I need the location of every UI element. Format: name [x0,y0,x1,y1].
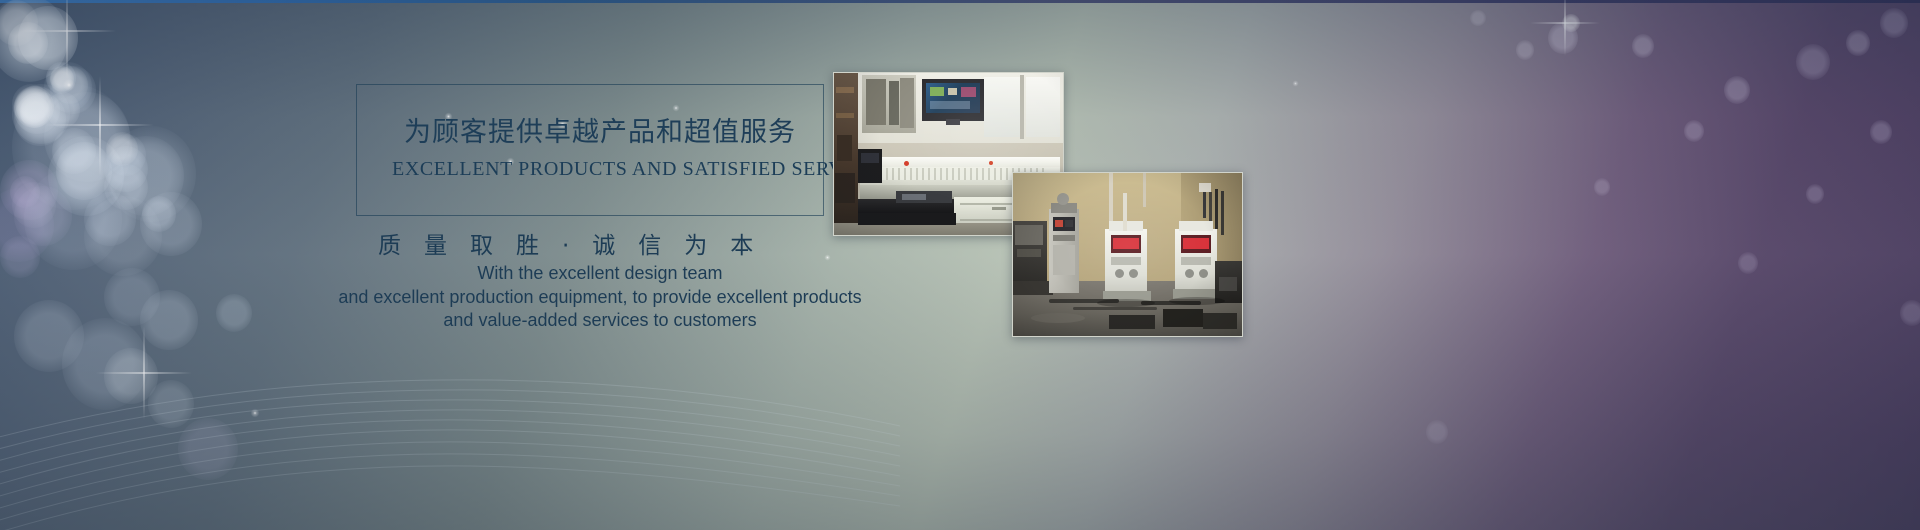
bokeh-circle [106,132,138,166]
sparkle-flare [250,408,260,418]
headline-english: EXCELLENT PRODUCTS AND SATISFIED SERVICE [392,158,832,181]
description-line-3: and value-added services to customers [300,309,900,333]
headline-chinese: 为顾客提供卓越产品和超值服务 [404,110,824,149]
bokeh-circle [0,0,68,82]
light-streak [96,372,192,374]
bokeh-circle [104,348,158,404]
bokeh-circle [1426,420,1448,444]
bokeh-circle [84,192,136,246]
bokeh-circle [12,84,132,210]
description-line-2: and excellent production equipment, to p… [300,286,900,310]
description-line-1: With the excellent design team [300,262,900,286]
light-streak [143,326,145,420]
top-accent-rule [0,0,1920,3]
promo-banner: 为顾客提供卓越产品和超值服务 EXCELLENT PRODUCTS AND SA… [0,0,1920,530]
bokeh-circle [14,186,72,246]
sparkle-flare [824,254,831,261]
bokeh-circle [104,164,148,210]
bokeh-circle [104,268,160,326]
light-streak [1564,0,1566,56]
bokeh-circle [8,22,48,64]
bokeh-circle [24,168,122,270]
bokeh-circle [52,128,96,174]
bokeh-circle [46,62,76,94]
headline-frame [356,84,824,216]
bokeh-circle [48,136,124,216]
sparkle-flare [62,78,76,92]
bokeh-circle [140,192,202,256]
light-streak [66,0,68,80]
bokeh-circle [62,318,148,410]
bokeh-circle [148,380,194,428]
bokeh-circle [12,84,50,124]
bokeh-circle [84,196,162,276]
bokeh-circle [56,142,112,200]
bokeh-circle [50,66,74,92]
bokeh-circle [14,86,60,134]
bokeh-circle [46,92,80,128]
light-streak [20,30,116,32]
bokeh-circle [1806,184,1824,204]
bokeh-circle [1738,252,1758,274]
light-streak [99,76,101,176]
photo-test-machines [1012,172,1243,337]
bokeh-circle [178,418,238,480]
bokeh-circle [52,66,88,104]
bokeh-circle [1516,40,1534,60]
bokeh-circle [14,300,84,372]
bokeh-circle [12,84,70,144]
bokeh-circle [0,236,40,278]
description-paragraph: With the excellent design team and excel… [300,262,900,333]
bokeh-circle [14,92,66,146]
bokeh-circle [1880,8,1908,38]
bokeh-circle [1632,34,1654,58]
bokeh-circle [140,290,198,350]
bokeh-circle [1470,10,1486,26]
bokeh-circle [14,86,54,128]
bokeh-circle [16,88,52,126]
bokeh-circle [1562,14,1580,32]
bokeh-circle [1594,178,1610,196]
bokeh-circle [44,92,130,182]
bokeh-circle [104,146,148,192]
bokeh-circle [106,134,146,176]
bokeh-circle [1548,22,1578,54]
bokeh-circle [20,96,50,128]
bokeh-circle [1870,120,1892,144]
bokeh-circle [108,136,184,216]
bokeh-circle [1684,120,1704,142]
bokeh-circle [18,6,78,70]
slogan-chinese: 质 量 取 胜 · 诚 信 为 本 [378,226,808,260]
bokeh-circle [142,196,176,232]
light-streak [46,124,154,126]
bokeh-circle [1846,30,1870,56]
bokeh-circle [106,126,196,222]
bokeh-circle [1900,300,1920,326]
light-streak [1530,22,1600,24]
bokeh-circle [0,160,58,220]
bokeh-circle [1796,44,1830,80]
bokeh-circle [10,176,40,208]
bokeh-circle [0,0,38,46]
sparkle-flare [1292,80,1299,87]
bokeh-circle [216,294,252,332]
bokeh-circle [12,182,56,228]
bokeh-circle [50,66,96,114]
bokeh-circle [0,188,54,262]
bokeh-circle [1724,76,1750,104]
bokeh-circle [44,62,92,112]
